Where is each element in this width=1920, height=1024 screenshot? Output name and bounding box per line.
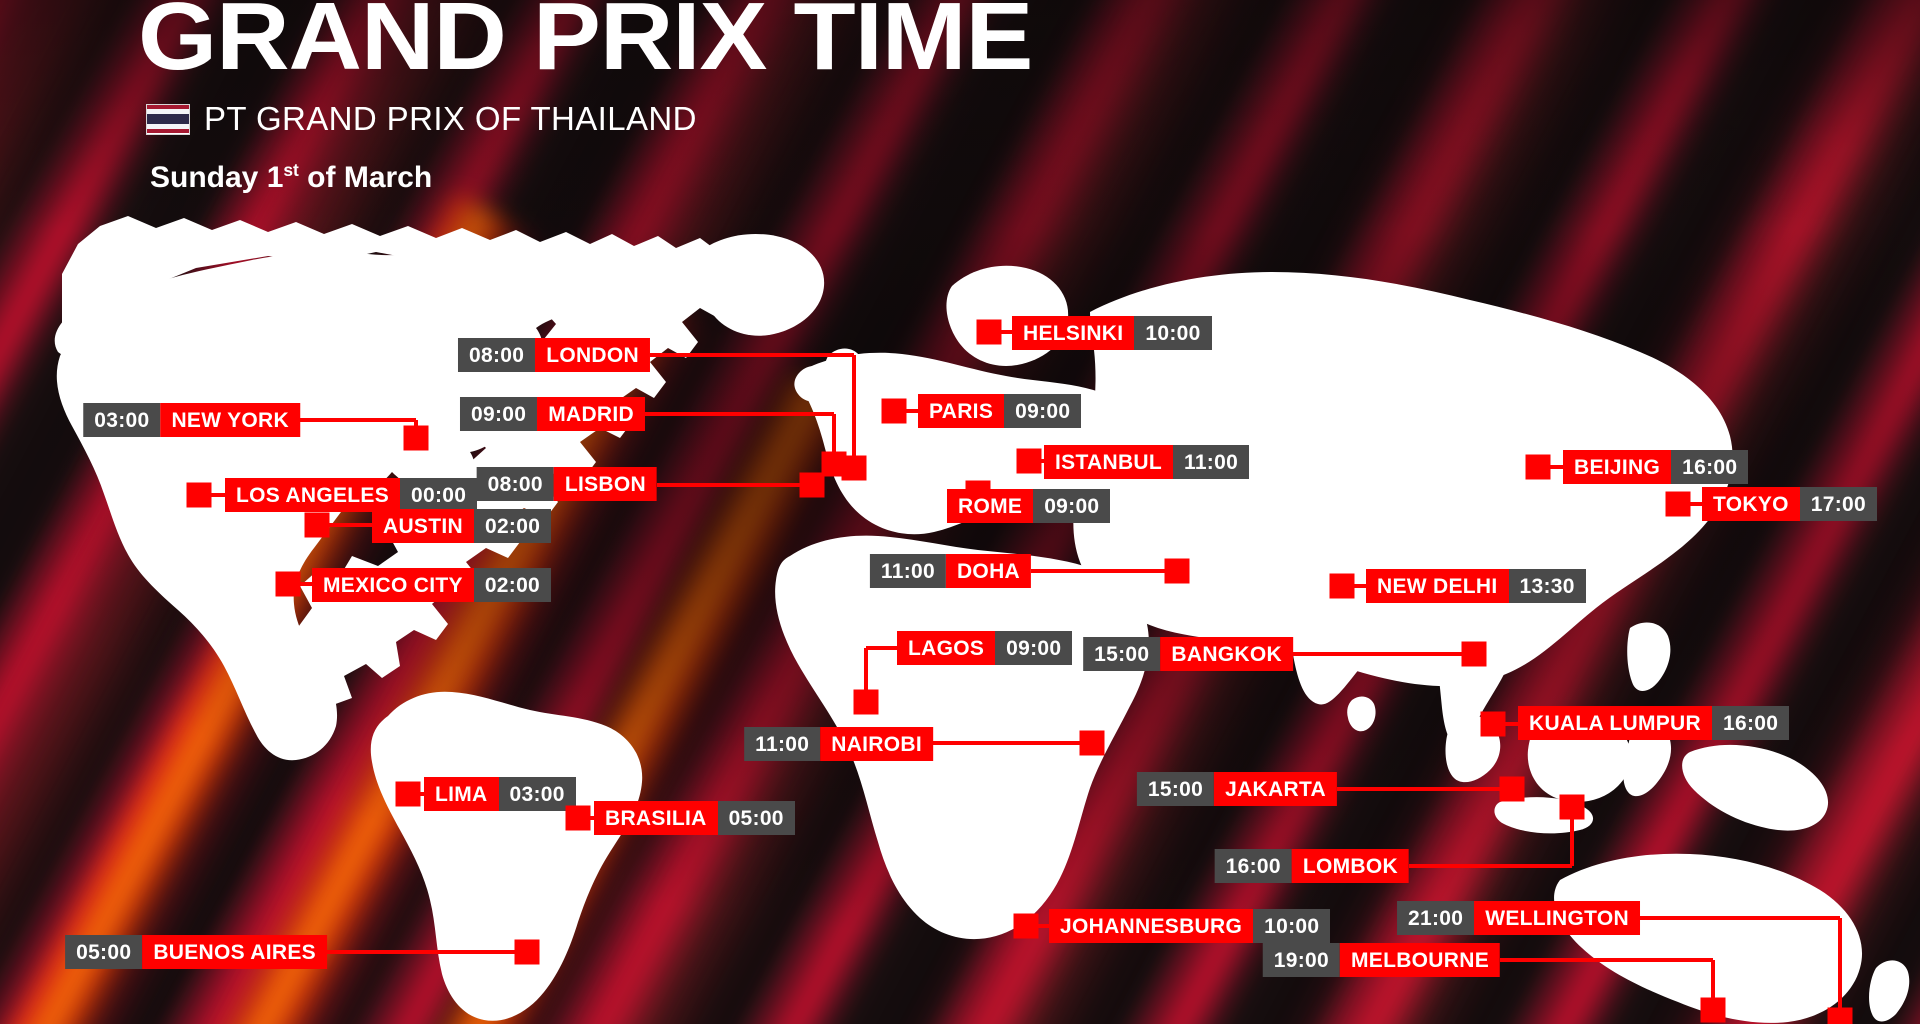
local-time: 09:00 xyxy=(995,631,1072,665)
leader-line-h-lagos xyxy=(866,646,897,650)
time-label-istanbul[interactable]: ISTANBUL11:00 xyxy=(1044,445,1249,479)
date-suffix: of March xyxy=(299,161,432,194)
city-name: NEW DELHI xyxy=(1366,569,1509,603)
time-label-new-delhi[interactable]: NEW DELHI13:30 xyxy=(1366,569,1586,603)
time-label-johannesburg[interactable]: JOHANNESBURG10:00 xyxy=(1049,909,1330,943)
leader-line-new-delhi xyxy=(1342,584,1366,588)
time-label-doha[interactable]: DOHA11:00 xyxy=(870,554,1031,588)
time-label-lombok[interactable]: LOMBOK16:00 xyxy=(1215,849,1409,883)
local-time: 11:00 xyxy=(744,727,820,761)
time-label-new-york[interactable]: NEW YORK03:00 xyxy=(83,403,300,437)
leader-line-h-london xyxy=(650,353,854,357)
local-time: 05:00 xyxy=(718,801,795,835)
leader-line-jakarta xyxy=(1337,787,1512,791)
city-name: LOMBOK xyxy=(1292,849,1409,883)
local-time: 08:00 xyxy=(458,338,535,372)
time-label-nairobi[interactable]: NAIROBI11:00 xyxy=(744,727,933,761)
time-label-brasilia[interactable]: BRASILIA05:00 xyxy=(594,801,795,835)
local-time: 13:30 xyxy=(1509,569,1586,603)
time-label-wellington[interactable]: WELLINGTON21:00 xyxy=(1397,901,1640,935)
leader-line-v-melbourne xyxy=(1711,960,1715,1010)
leader-line-doha xyxy=(1031,569,1177,573)
time-label-beijing[interactable]: BEIJING16:00 xyxy=(1563,450,1748,484)
city-name: MELBOURNE xyxy=(1340,943,1500,977)
local-time: 11:00 xyxy=(870,554,946,588)
time-label-helsinki[interactable]: HELSINKI10:00 xyxy=(1012,316,1212,350)
local-time: 10:00 xyxy=(1134,316,1211,350)
city-name: LISBON xyxy=(554,467,657,501)
time-label-austin[interactable]: AUSTIN02:00 xyxy=(372,509,551,543)
city-name: MEXICO CITY xyxy=(312,568,474,602)
leader-line-v-wellington xyxy=(1838,918,1842,1020)
local-time: 08:00 xyxy=(477,467,554,501)
city-name: MADRID xyxy=(537,397,645,431)
leader-line-tokyo xyxy=(1678,502,1702,506)
leader-line-v-london xyxy=(852,355,856,468)
city-name: HELSINKI xyxy=(1012,316,1134,350)
date-prefix: Sunday 1 xyxy=(150,161,283,194)
local-time: 21:00 xyxy=(1397,901,1474,935)
time-label-lisbon[interactable]: LISBON08:00 xyxy=(477,467,657,501)
time-label-london[interactable]: LONDON08:00 xyxy=(458,338,650,372)
leader-line-h-madrid xyxy=(645,412,834,416)
leader-line-h-new-york xyxy=(300,418,416,422)
city-name: PARIS xyxy=(918,394,1004,428)
city-name: DOHA xyxy=(946,554,1031,588)
city-name: ISTANBUL xyxy=(1044,445,1173,479)
time-label-mexico-city[interactable]: MEXICO CITY02:00 xyxy=(312,568,551,602)
city-name: NEW YORK xyxy=(160,403,300,437)
local-time: 05:00 xyxy=(65,935,142,969)
local-time: 15:00 xyxy=(1137,772,1214,806)
local-time: 03:00 xyxy=(499,777,576,811)
leader-line-v-lombok xyxy=(1570,807,1574,866)
time-label-bangkok[interactable]: BANGKOK15:00 xyxy=(1083,637,1293,671)
leader-line-mexico-city xyxy=(288,582,312,586)
leader-line-lisbon xyxy=(657,483,812,487)
local-time: 00:00 xyxy=(400,478,477,512)
local-time: 17:00 xyxy=(1800,487,1877,521)
city-name: AUSTIN xyxy=(372,509,474,543)
leader-line-lima xyxy=(408,792,424,796)
leader-line-los-angeles xyxy=(199,493,225,497)
time-label-layer: NEW YORK03:00LOS ANGELES00:00AUSTIN02:00… xyxy=(0,0,1920,1024)
leader-line-nairobi xyxy=(933,741,1092,745)
local-time: 16:00 xyxy=(1671,450,1748,484)
page-title: GRAND PRIX TIME xyxy=(138,0,1032,92)
city-name: LOS ANGELES xyxy=(225,478,400,512)
time-label-buenos-aires[interactable]: BUENOS AIRES05:00 xyxy=(65,935,327,969)
thailand-flag-icon xyxy=(146,104,190,135)
leader-line-istanbul xyxy=(1029,459,1044,463)
time-label-lima[interactable]: LIMA03:00 xyxy=(424,777,576,811)
city-name: BANGKOK xyxy=(1160,637,1293,671)
leader-line-v-lagos xyxy=(864,648,868,702)
city-name: BUENOS AIRES xyxy=(142,935,327,969)
time-label-kuala-lumpur[interactable]: KUALA LUMPUR16:00 xyxy=(1518,706,1789,740)
time-label-melbourne[interactable]: MELBOURNE19:00 xyxy=(1263,943,1500,977)
city-name: LAGOS xyxy=(897,631,995,665)
local-time: 09:00 xyxy=(460,397,537,431)
leader-line-v-madrid xyxy=(832,414,836,464)
leader-line-v-new-york xyxy=(414,420,418,438)
city-name: WELLINGTON xyxy=(1474,901,1640,935)
leader-line-johannesburg xyxy=(1026,924,1049,928)
leader-line-bangkok xyxy=(1293,652,1474,656)
city-name: BEIJING xyxy=(1563,450,1671,484)
leader-line-buenos-aires xyxy=(327,950,527,954)
city-name: TOKYO xyxy=(1702,487,1800,521)
local-time: 16:00 xyxy=(1215,849,1292,883)
time-label-madrid[interactable]: MADRID09:00 xyxy=(460,397,645,431)
time-label-jakarta[interactable]: JAKARTA15:00 xyxy=(1137,772,1337,806)
leader-line-brasilia xyxy=(578,816,594,820)
local-time: 02:00 xyxy=(474,509,551,543)
local-time: 16:00 xyxy=(1712,706,1789,740)
leader-line-h-lombok xyxy=(1409,864,1572,868)
local-time: 09:00 xyxy=(1004,394,1081,428)
city-name: BRASILIA xyxy=(594,801,718,835)
city-name: JOHANNESBURG xyxy=(1049,909,1253,943)
leader-line-h-melbourne xyxy=(1500,958,1713,962)
local-time: 02:00 xyxy=(474,568,551,602)
time-label-paris[interactable]: PARIS09:00 xyxy=(918,394,1081,428)
city-name: LONDON xyxy=(535,338,650,372)
local-time: 09:00 xyxy=(1033,489,1110,523)
time-label-los-angeles[interactable]: LOS ANGELES00:00 xyxy=(225,478,477,512)
event-subtitle: PT GRAND PRIX OF THAILAND xyxy=(204,100,697,138)
subtitle-row: PT GRAND PRIX OF THAILAND xyxy=(146,100,697,138)
date-ordinal: st xyxy=(283,160,298,180)
local-time: 19:00 xyxy=(1263,943,1340,977)
leader-line-paris xyxy=(894,409,918,413)
local-time: 11:00 xyxy=(1173,445,1249,479)
leader-line-helsinki xyxy=(989,330,1012,334)
leader-line-kuala-lumpur xyxy=(1493,722,1518,726)
leader-line-rome xyxy=(947,491,978,495)
city-name: LIMA xyxy=(424,777,499,811)
time-label-lagos[interactable]: LAGOS09:00 xyxy=(897,631,1072,665)
event-date: Sunday 1st of March xyxy=(150,160,432,195)
city-name: JAKARTA xyxy=(1214,772,1337,806)
leader-line-beijing xyxy=(1538,465,1563,469)
city-name: NAIROBI xyxy=(820,727,933,761)
leader-line-austin xyxy=(317,523,372,527)
local-time: 10:00 xyxy=(1253,909,1330,943)
local-time: 15:00 xyxy=(1083,637,1160,671)
leader-line-h-wellington xyxy=(1640,916,1840,920)
city-name: KUALA LUMPUR xyxy=(1518,706,1712,740)
time-label-tokyo[interactable]: TOKYO17:00 xyxy=(1702,487,1877,521)
local-time: 03:00 xyxy=(83,403,160,437)
